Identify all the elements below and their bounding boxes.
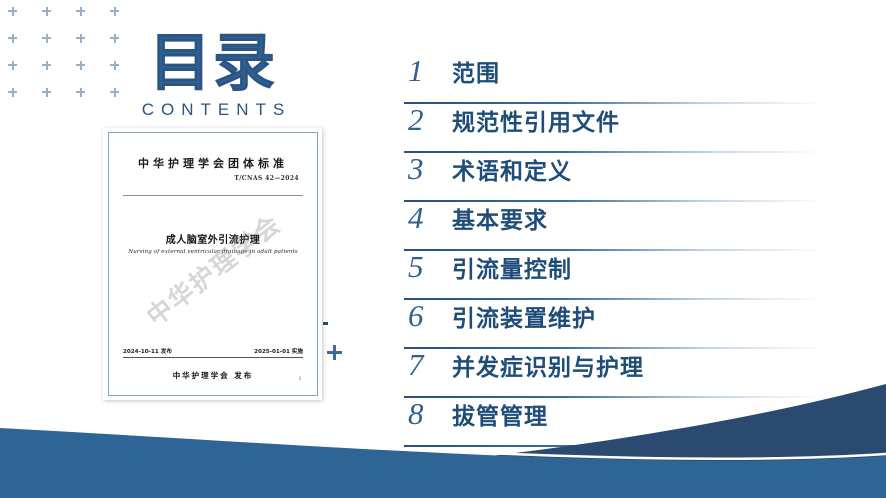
toc-label: 引流装置维护 [452, 308, 596, 331]
plus-icon [110, 6, 144, 33]
heading-title-cn: 目录 [103, 32, 323, 94]
toc-label: 基本要求 [452, 210, 548, 233]
dot-grid-decoration [8, 6, 112, 92]
toc-number: 6 [408, 300, 452, 331]
plus-icon [42, 33, 76, 60]
edge-tick-marker [323, 322, 328, 325]
document-effective-date: 2025-01-01 实施 [254, 347, 303, 355]
plus-icon [8, 33, 42, 60]
document-standard-number: T/CNAS 42—2024 [234, 175, 299, 182]
document-dates: 2024-10-11 发布 2025-01-01 实施 [123, 347, 303, 355]
toc-item-5[interactable]: 5 引流量控制 [404, 251, 824, 300]
plus-icon [8, 6, 42, 33]
toc-number: 2 [408, 104, 452, 135]
toc-item-4[interactable]: 4 基本要求 [404, 202, 824, 251]
toc-label: 规范性引用文件 [452, 112, 620, 135]
document-page: 中华护理学会团体标准 T/CNAS 42—2024 成人脑室外引流护理 Nurs… [109, 133, 317, 395]
document-issue-date: 2024-10-11 发布 [123, 347, 172, 355]
toc-number: 1 [408, 55, 452, 86]
toc-item-1[interactable]: 1 范围 [404, 55, 824, 104]
document-watermark: 中华护理学会 [138, 205, 288, 333]
bottom-wave-decoration [0, 378, 886, 498]
toc-label: 术语和定义 [452, 161, 572, 184]
plus-icon [42, 60, 76, 87]
document-border-frame: 中华护理学会团体标准 T/CNAS 42—2024 成人脑室外引流护理 Nurs… [108, 132, 318, 396]
document-footer-rule [123, 357, 303, 358]
plus-icon [42, 87, 76, 114]
plus-icon [8, 87, 42, 114]
toc-item-2[interactable]: 2 规范性引用文件 [404, 104, 824, 153]
plus-icon [8, 60, 42, 87]
toc-number: 5 [408, 251, 452, 282]
plus-icon [327, 345, 342, 360]
heading-title-en: CONTENTS [103, 100, 323, 120]
toc-number: 4 [408, 202, 452, 233]
toc-label: 范围 [452, 63, 500, 86]
toc-item-3[interactable]: 3 术语和定义 [404, 153, 824, 202]
standard-document-thumbnail[interactable]: 中华护理学会团体标准 T/CNAS 42—2024 成人脑室外引流护理 Nurs… [103, 128, 322, 400]
toc-item-6[interactable]: 6 引流装置维护 [404, 300, 824, 349]
document-header-rule [123, 195, 303, 196]
document-title-en: Nursing of external ventricular drainage… [109, 249, 317, 255]
toc-label: 引流量控制 [452, 259, 572, 282]
toc-number: 7 [408, 349, 452, 380]
toc-number: 3 [408, 153, 452, 184]
document-organization: 中华护理学会团体标准 [109, 155, 317, 171]
slide-canvas: 目录 CONTENTS 中华护理学会团体标准 T/CNAS 42—2024 成人… [0, 0, 886, 498]
plus-icon [42, 6, 76, 33]
section-heading: 目录 CONTENTS [103, 32, 323, 120]
document-title-cn: 成人脑室外引流护理 [109, 231, 317, 246]
toc-label: 并发症识别与护理 [452, 357, 644, 380]
plus-icon [76, 6, 110, 33]
